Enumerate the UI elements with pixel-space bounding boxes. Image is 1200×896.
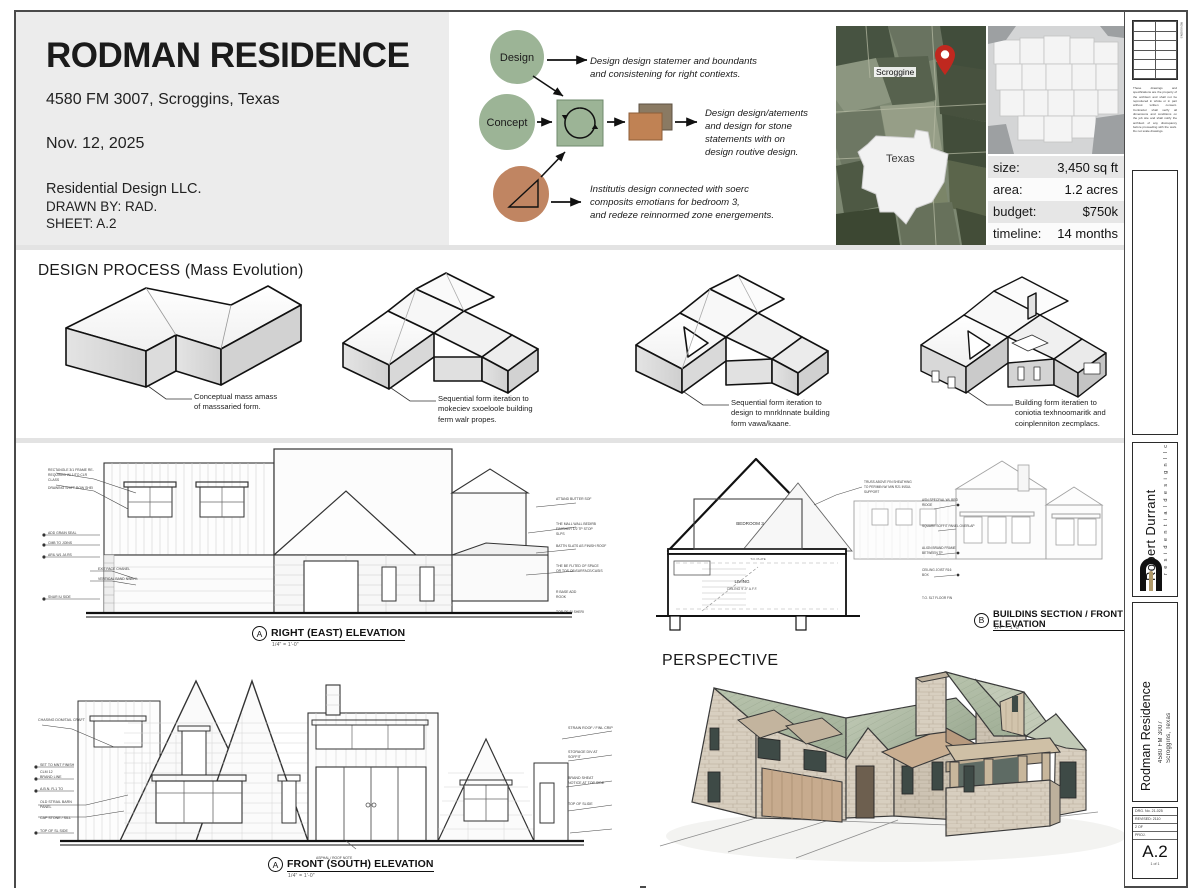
mass-step-3 — [636, 275, 828, 395]
project-stats-table: size: 3,450 sq ft area: 1.2 acres budget… — [988, 156, 1124, 245]
stat-value: 14 months — [1048, 223, 1124, 245]
sheet-number-box: DRG. No. 21-025 REVISED: 2110 2 OF PROJ.… — [1132, 807, 1178, 879]
svg-text:EXIT FACE CHANEL: EXIT FACE CHANEL — [98, 567, 130, 571]
svg-text:CHASING DOM/TAIL CRAFT: CHASING DOM/TAIL CRAFT — [38, 718, 86, 722]
drawing-sheet: RODMAN RESIDENCE 4580 FM 3007, Scroggins… — [14, 10, 1188, 888]
concept-diagram: Design Concept — [459, 12, 831, 245]
detail-marker-bubble: B — [974, 613, 989, 628]
table-row: size: 3,450 sq ft — [988, 156, 1124, 178]
svg-text:SQUARE SOFFIT PANEL OVERLAP: SQUARE SOFFIT PANEL OVERLAP — [922, 524, 975, 528]
svg-text:T.O. SLT FLOOR FIN: T.O. SLT FLOOR FIN — [922, 596, 953, 600]
svg-text:SUPPORT: SUPPORT — [864, 490, 879, 494]
title-strip: REVISIONS These drawings and specificati… — [1124, 12, 1186, 886]
concept-annotation-2: Design design/atements and design for st… — [705, 108, 827, 160]
concept-annotation-3: Institutis design connected with soerc c… — [590, 184, 805, 223]
aerial-map[interactable]: Scroggine Texas — [836, 26, 986, 245]
material-swatch-front — [629, 113, 662, 140]
svg-text:TOP OF SI SHERI: TOP OF SI SHERI — [556, 610, 584, 614]
mass-step-1 — [66, 286, 301, 387]
site-map-block: Scroggine Texas — [836, 26, 1124, 245]
mass-caption-2: Sequential form iteration to mokeciev sx… — [438, 394, 568, 425]
svg-text:TRUSS ABOVE FIN SHEATHING: TRUSS ABOVE FIN SHEATHING — [864, 480, 912, 484]
sheet-meta-row: PROJ. — [1133, 832, 1177, 840]
svg-text:CMB TO JOINS: CMB TO JOINS — [48, 541, 73, 545]
stat-key: area: — [988, 178, 1048, 200]
stat-key: timeline: — [988, 223, 1048, 245]
svg-text:BOX: BOX — [922, 573, 930, 577]
arch-logo-icon — [1137, 551, 1165, 593]
svg-text:ATTAND BUTTER SOF: ATTAND BUTTER SOF — [556, 497, 591, 501]
svg-text:RIDGE: RIDGE — [922, 503, 932, 507]
header-band: RODMAN RESIDENCE 4580 FM 3007, Scroggins… — [16, 12, 1124, 245]
svg-text:T.O. PLATE: T.O. PLATE — [750, 557, 766, 561]
svg-text:BRAND SHEAT: BRAND SHEAT — [568, 776, 594, 780]
map-pin-icon — [934, 44, 956, 76]
sheet-meta-row: REVISED: 2110 — [1133, 816, 1177, 824]
right-elevation-panel: RECTANGLE 3/1 FRAME RE- REQUIRED W/ 1/TO… — [16, 443, 640, 658]
project-address: 4580 FM 3007, Scroggins, Texas — [46, 91, 449, 109]
svg-text:VERTICAL BAND NWB %: VERTICAL BAND NWB % — [98, 577, 138, 581]
section-room-label-1: BEDROOM 3 — [736, 521, 764, 526]
panel-divider — [16, 245, 1124, 250]
sheet-meta-row: DRG. No. 21-025 — [1133, 808, 1177, 816]
map-pin-label: Scroggine — [874, 67, 916, 77]
svg-text:CAP STONE / SILL: CAP STONE / SILL — [40, 816, 71, 820]
right-elevation-label: A RIGHT (EAST) ELEVATION — [252, 626, 405, 641]
table-row: timeline: 14 months — [988, 223, 1124, 245]
strip-project-name: Rodman Residence — [1139, 621, 1153, 791]
svg-text:TOP OF SLIDE: TOP OF SLIDE — [568, 802, 593, 806]
mass-step-2 — [343, 273, 538, 393]
svg-text:CEILING JOIST R16: CEILING JOIST R16 — [922, 568, 952, 572]
revision-table-heading: REVISIONS — [1179, 22, 1184, 78]
stat-value: 1.2 acres — [1048, 178, 1124, 200]
svg-text:BETWEEN TP: BETWEEN TP — [922, 551, 943, 555]
strip-project-city: Scroggins, Texas — [1166, 643, 1172, 763]
svg-text:OR TOS OF SURFACE/CASIS: OR TOS OF SURFACE/CASIS — [556, 569, 603, 573]
us-inset-map[interactable] — [988, 26, 1124, 154]
svg-text:A.B.N. R-1 TO: A.B.N. R-1 TO — [40, 787, 63, 791]
sheet-meta-row: 2 OF — [1133, 824, 1177, 832]
svg-text:ADD GRAIN SEAL: ADD GRAIN SEAL — [48, 531, 77, 535]
svg-text:BRAND LINE: BRAND LINE — [40, 775, 62, 779]
project-date: Nov. 12, 2025 — [46, 135, 449, 153]
concept-annotation-1: Design design statemer and boundants and… — [590, 56, 770, 82]
svg-text:BATTN SLATS AS FINISH ROOF: BATTN SLATS AS FINISH ROOF — [556, 544, 606, 548]
stat-value: 3,450 sq ft — [1048, 156, 1124, 178]
svg-text:TOP OF SL SIDE: TOP OF SL SIDE — [40, 829, 68, 833]
svg-text:ALIGN BRAND FRAME: ALIGN BRAND FRAME — [922, 546, 956, 550]
svg-text:SNUR IU SIDE: SNUR IU SIDE — [48, 595, 72, 599]
svg-text:TO PERIMIN W/ MIN R21 INSUL: TO PERIMIN W/ MIN R21 INSUL — [864, 485, 911, 489]
process-box — [557, 100, 603, 146]
sheet-meta-rows: DRG. No. 21-025 REVISED: 2110 2 OF PROJ. — [1133, 808, 1177, 840]
sheet-label: SHEET: A.2 — [46, 216, 449, 231]
building-section-scale: 1/4" = 1'-0" — [994, 625, 1021, 631]
svg-text:SOFFIT: SOFFIT — [568, 755, 582, 759]
legal-notes-text: These drawings and specifications are th… — [1133, 86, 1177, 134]
concept-circle-label: Concept — [487, 117, 528, 129]
mass-caption-3: Sequential form iteration to design to m… — [731, 398, 861, 429]
design-circle-label: Design — [500, 52, 534, 64]
perspective-panel: PERSPECTIVE — [646, 640, 1124, 890]
firm-logo-box: Robert Durrant r e s i d e n t i a l d e… — [1132, 442, 1178, 597]
title-block: RODMAN RESIDENCE 4580 FM 3007, Scroggins… — [16, 12, 449, 245]
right-elevation-title: RIGHT (EAST) ELEVATION — [271, 627, 405, 641]
front-elevation-label: A FRONT (SOUTH) ELEVATION — [268, 857, 434, 872]
table-row: area: 1.2 acres — [988, 178, 1124, 200]
svg-text:FINISHER 1/2 TP STOP: FINISHER 1/2 TP STOP — [556, 527, 593, 531]
mass-step-4 — [921, 277, 1106, 397]
table-row: budget: $750k — [988, 201, 1124, 223]
section-room-label-2: LIVING — [734, 579, 749, 584]
svg-text:STORAGE DIV AT: STORAGE DIV AT — [568, 750, 598, 754]
revision-table — [1132, 20, 1178, 80]
page-title: RODMAN RESIDENCE — [46, 38, 449, 75]
svg-text:NOTICE AT TOP SIDE: NOTICE AT TOP SIDE — [568, 781, 605, 785]
svg-text:STRAIN ROOF / FINL CRIP: STRAIN ROOF / FINL CRIP — [568, 726, 613, 730]
svg-text:THE MALL WALL BEDIRB: THE MALL WALL BEDIRB — [556, 522, 597, 526]
front-elevation-panel: CHASING DOM/TAIL CRAFT SET TO MNT FINISH… — [16, 663, 640, 890]
svg-text:ASN SPECFIAL WL BRD: ASN SPECFIAL WL BRD — [922, 498, 959, 502]
sheet-number-sub: 1 of 1 — [1133, 862, 1177, 866]
svg-text:THE BE FLITED OF SPACE: THE BE FLITED OF SPACE — [556, 564, 599, 568]
svg-text:ROOK: ROOK — [556, 595, 567, 599]
design-process-panel: DESIGN PROCESS (Mass Evolution) — [16, 253, 1124, 438]
detail-marker-bubble: A — [252, 626, 267, 641]
firm-name: Residential Design LLC. — [46, 181, 449, 197]
strip-project-address: 4580 FM 3007 — [1158, 643, 1164, 763]
building-section-panel: BEDROOM 3 LIVING CEILING 9'-0" A.F.F. T.… — [646, 443, 1124, 635]
svg-text:CLM 12: CLM 12 — [40, 770, 53, 774]
svg-text:OLD STRAIL BARN: OLD STRAIL BARN — [40, 800, 72, 804]
svg-text:CEILING 9'-0" A.F.F.: CEILING 9'-0" A.F.F. — [727, 587, 758, 591]
svg-text:PANEL: PANEL — [40, 805, 52, 809]
state-label: Texas — [886, 153, 915, 165]
svg-text:ARIL W1 JA RS: ARIL W1 JA RS — [48, 553, 73, 557]
right-elevation-scale: 1/4" = 1'-0" — [272, 642, 299, 648]
svg-text:REQUIRED W/ 1/TO CLR: REQUIRED W/ 1/TO CLR — [48, 473, 88, 477]
svg-text:R BASE ADD: R BASE ADD — [556, 590, 577, 594]
stat-value: $750k — [1048, 201, 1124, 223]
mass-caption-1: Conceptual mass amass of masssaried form… — [194, 392, 324, 413]
triangle-circle — [493, 166, 549, 222]
project-title-box: Rodman Residence 4580 FM 3007 Scroggins,… — [1132, 602, 1178, 802]
notes-box — [1132, 170, 1178, 435]
drawn-by: DRAWN BY: RAD. — [46, 199, 449, 214]
sheet-number: A.2 — [1133, 840, 1177, 862]
svg-text:RECTANGLE 3/1 FRAME RE-: RECTANGLE 3/1 FRAME RE- — [48, 468, 94, 472]
stat-key: budget: — [988, 201, 1048, 223]
front-elevation-title: FRONT (SOUTH) ELEVATION — [287, 858, 434, 872]
detail-marker-bubble: A — [268, 857, 283, 872]
front-elevation-scale: 1/4" = 1'-0" — [288, 873, 315, 879]
svg-text:DRAWING SHIFT ROW SHEI: DRAWING SHIFT ROW SHEI — [48, 486, 93, 490]
svg-text:SLPS: SLPS — [556, 532, 565, 536]
svg-text:CLASS: CLASS — [48, 478, 60, 482]
svg-text:SET TO MNT FINISH: SET TO MNT FINISH — [40, 763, 75, 767]
stat-key: size: — [988, 156, 1048, 178]
